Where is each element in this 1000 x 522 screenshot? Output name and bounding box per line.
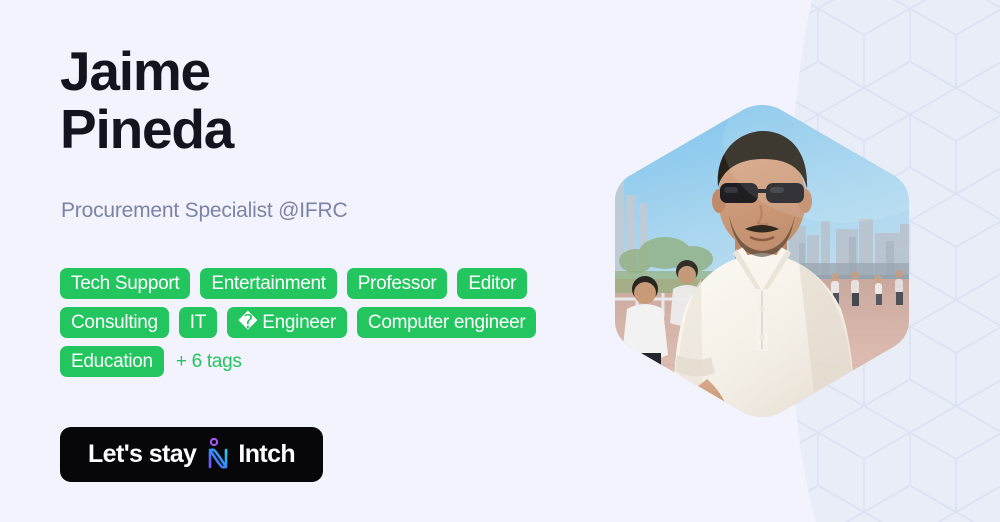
profile-headline: Procurement Specialist @IFRC [61,198,347,224]
tag-chip[interactable]: Education [60,346,164,377]
avatar [603,103,921,419]
cta-text-after: Intch [238,440,295,469]
profile-card: Jaime Pineda Procurement Specialist @IFR… [0,0,1000,522]
page-title: Jaime Pineda [60,42,233,158]
tag-chip[interactable]: Tech Support [60,268,190,299]
tag-chip[interactable]: IT [179,307,217,338]
cta-text-before: Let's stay [88,440,196,469]
tag-chip[interactable]: � Engineer [227,307,347,338]
tag-list: Tech Support Entertainment Professor Edi… [60,268,590,377]
tag-chip[interactable]: Editor [457,268,527,299]
tag-chip[interactable]: Professor [347,268,448,299]
tag-chip[interactable]: Computer engineer [357,307,537,338]
more-tags-label[interactable]: + 6 tags [174,346,242,377]
profile-content: Jaime Pineda Procurement Specialist @IFR… [60,0,620,522]
lets-stay-intch-button[interactable]: Let's stay Intch [60,427,323,482]
tag-chip[interactable]: Entertainment [200,268,336,299]
avatar-hexagon-graphic [603,103,921,419]
intch-logo-icon [205,437,231,471]
tag-chip[interactable]: Consulting [60,307,169,338]
